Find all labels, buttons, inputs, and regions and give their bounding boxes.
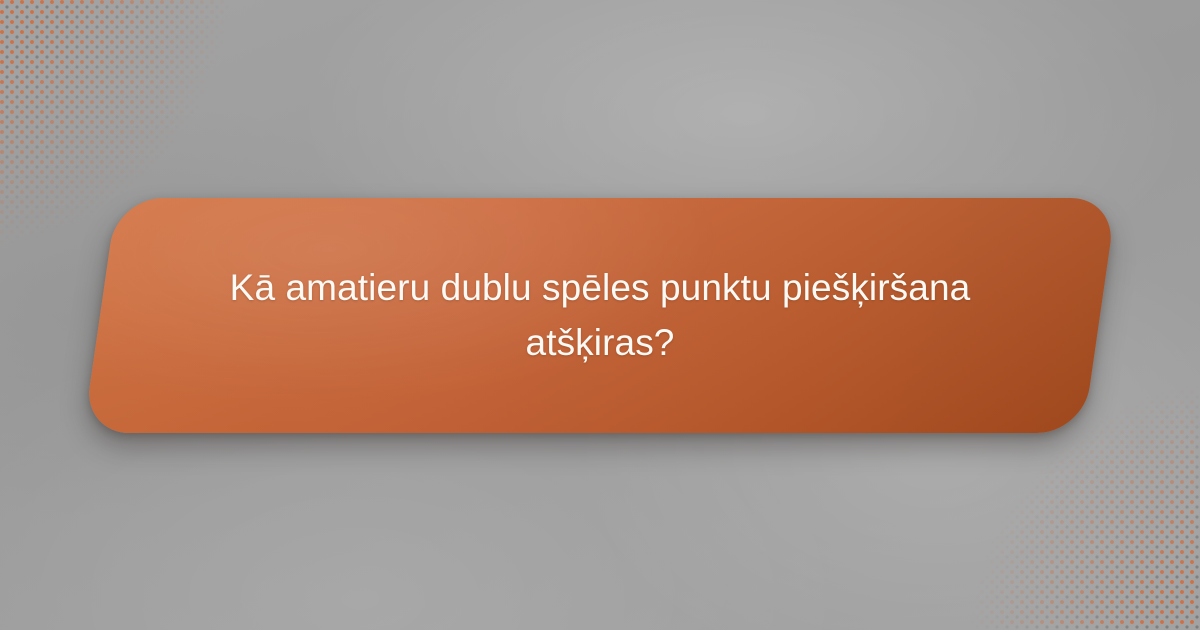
page-title: Kā amatieru dublu spēles punktu piešķirš… bbox=[205, 261, 995, 371]
headline-card-text-area: Kā amatieru dublu spēles punktu piešķirš… bbox=[100, 198, 1100, 433]
share-card-canvas: Kā amatieru dublu spēles punktu piešķirš… bbox=[0, 0, 1200, 630]
headline-card: Kā amatieru dublu spēles punktu piešķirš… bbox=[100, 198, 1100, 433]
